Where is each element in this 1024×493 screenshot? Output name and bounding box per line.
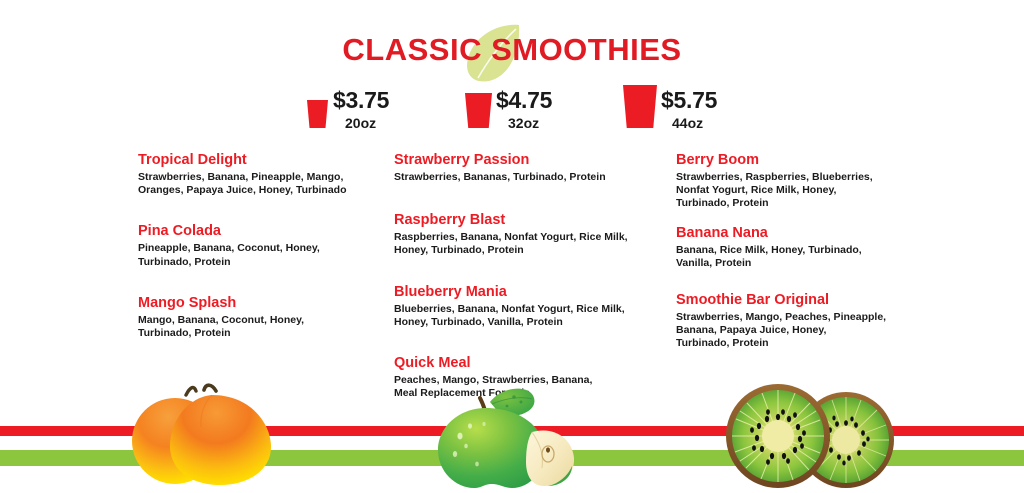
menu-item[interactable]: Smoothie Bar OriginalStrawberries, Mango…	[676, 292, 926, 351]
menu-item-description-line: Honey, Turbinado, Protein	[394, 244, 644, 257]
menu-item-description: Strawberries, Bananas, Turbinado, Protei…	[394, 171, 644, 184]
price-row: $3.75 20oz $4.75 32oz $5.75 44oz	[0, 84, 1024, 134]
size-32oz: 32oz	[508, 115, 539, 131]
price-20oz: $3.75	[333, 87, 389, 114]
menu-item-name: Quick Meal	[394, 355, 644, 372]
price-32oz: $4.75	[496, 87, 552, 114]
menu-item-description: Mango, Banana, Coconut, Honey,Turbinado,…	[138, 314, 368, 340]
menu-item-description-line: Blueberries, Banana, Nonfat Yogurt, Rice…	[394, 303, 644, 316]
menu-item-name: Raspberry Blast	[394, 212, 644, 229]
menu-item[interactable]: Berry BoomStrawberries, Raspberries, Blu…	[676, 152, 926, 211]
menu-item-description-line: Oranges, Papaya Juice, Honey, Turbinado	[138, 184, 368, 197]
menu-item-description: Strawberries, Mango, Peaches, Pineapple,…	[676, 311, 926, 351]
kiwi-slices-illustration	[716, 382, 906, 492]
menu-item-description-line: Strawberries, Raspberries, Blueberries,	[676, 171, 926, 184]
menu-item-description: Blueberries, Banana, Nonfat Yogurt, Rice…	[394, 303, 644, 329]
menu-item-description-line: Turbinado, Protein	[676, 197, 926, 210]
menu-item-description-line: Raspberries, Banana, Nonfat Yogurt, Rice…	[394, 231, 644, 244]
menu-item-description-line: Strawberries, Banana, Pineapple, Mango,	[138, 171, 368, 184]
menu-item-name: Pina Colada	[138, 223, 368, 240]
menu-item[interactable]: Banana NanaBanana, Rice Milk, Honey, Tur…	[676, 225, 926, 270]
menu-item-description-line: Mango, Banana, Coconut, Honey,	[138, 314, 368, 327]
menu-item[interactable]: Strawberry PassionStrawberries, Bananas,…	[394, 152, 644, 184]
peaches-illustration	[108, 383, 308, 489]
size-44oz: 44oz	[672, 115, 703, 131]
menu-column-3: Berry BoomStrawberries, Raspberries, Blu…	[676, 152, 926, 351]
menu-item-description: Pineapple, Banana, Coconut, Honey,Turbin…	[138, 242, 368, 268]
menu-item-description-line: Strawberries, Bananas, Turbinado, Protei…	[394, 171, 644, 184]
menu-column-2: Strawberry PassionStrawberries, Bananas,…	[394, 152, 644, 400]
menu-item[interactable]: Mango SplashMango, Banana, Coconut, Hone…	[138, 295, 368, 340]
menu-item-name: Smoothie Bar Original	[676, 292, 926, 309]
menu-item-description-line: Vanilla, Protein	[676, 257, 926, 270]
menu-item-description-line: Banana, Rice Milk, Honey, Turbinado,	[676, 244, 926, 257]
menu-item-description-line: Turbinado, Protein	[138, 256, 368, 269]
menu-item-name: Strawberry Passion	[394, 152, 644, 169]
menu-item-description-line: Pineapple, Banana, Coconut, Honey,	[138, 242, 368, 255]
menu-item-description: Strawberries, Banana, Pineapple, Mango,O…	[138, 171, 368, 197]
green-apple-illustration	[422, 380, 607, 490]
menu-item-description-line: Turbinado, Protein	[676, 337, 926, 350]
header: CLASSIC SMOOTHIES	[0, 10, 1024, 82]
menu-item[interactable]: Raspberry BlastRaspberries, Banana, Nonf…	[394, 212, 644, 257]
cup-medium-icon	[465, 93, 492, 128]
menu-item-description: Banana, Rice Milk, Honey, Turbinado,Vani…	[676, 244, 926, 270]
menu-item-description-line: Strawberries, Mango, Peaches, Pineapple,	[676, 311, 926, 324]
cup-large-icon	[623, 85, 657, 128]
menu-item-description-line: Banana, Papaya Juice, Honey,	[676, 324, 926, 337]
menu-column-1: Tropical DelightStrawberries, Banana, Pi…	[138, 152, 368, 340]
menu-item-name: Banana Nana	[676, 225, 926, 242]
size-20oz: 20oz	[345, 115, 376, 131]
menu-item-description: Strawberries, Raspberries, Blueberries,N…	[676, 171, 926, 211]
page-title: CLASSIC SMOOTHIES	[0, 32, 1024, 68]
menu-item-description-line: Nonfat Yogurt, Rice Milk, Honey,	[676, 184, 926, 197]
smoothie-menu-board: CLASSIC SMOOTHIES $3.75 20oz $4.75 32oz …	[0, 0, 1024, 493]
menu-item-name: Tropical Delight	[138, 152, 368, 169]
menu-item-description-line: Honey, Turbinado, Vanilla, Protein	[394, 316, 644, 329]
menu-item[interactable]: Tropical DelightStrawberries, Banana, Pi…	[138, 152, 368, 197]
menu-item-name: Mango Splash	[138, 295, 368, 312]
menu-item[interactable]: Blueberry ManiaBlueberries, Banana, Nonf…	[394, 284, 644, 329]
price-44oz: $5.75	[661, 87, 717, 114]
menu-item-name: Blueberry Mania	[394, 284, 644, 301]
menu-item-description-line: Turbinado, Protein	[138, 327, 368, 340]
cup-small-icon	[307, 100, 328, 128]
menu-item[interactable]: Pina ColadaPineapple, Banana, Coconut, H…	[138, 223, 368, 268]
menu-item-name: Berry Boom	[676, 152, 926, 169]
menu-item-description: Raspberries, Banana, Nonfat Yogurt, Rice…	[394, 231, 644, 257]
